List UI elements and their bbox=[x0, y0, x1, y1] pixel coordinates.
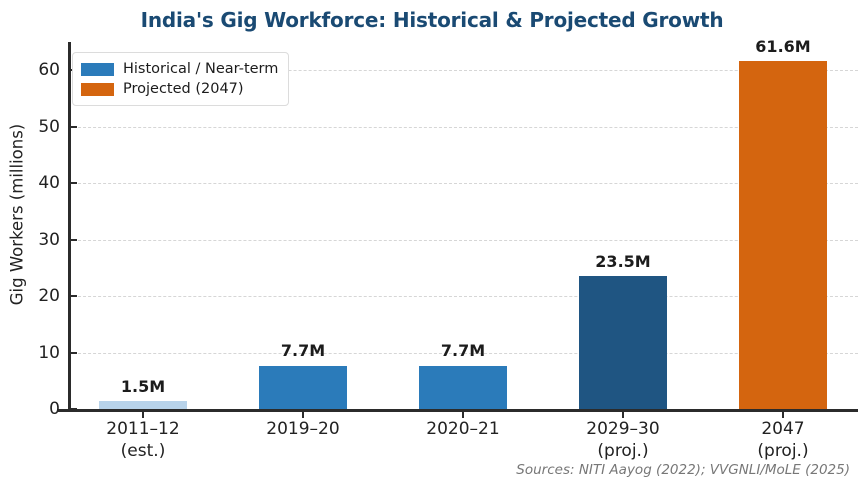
chart-legend[interactable]: Historical / Near-termProjected (2047) bbox=[72, 52, 289, 106]
x-tick-mark bbox=[782, 411, 784, 418]
legend-label: Historical / Near-term bbox=[123, 61, 278, 77]
y-tick-mark bbox=[70, 239, 77, 241]
x-axis-spine bbox=[58, 409, 858, 412]
bar-value-label: 7.7M bbox=[403, 341, 523, 360]
y-tick-mark bbox=[70, 182, 77, 184]
legend-swatch bbox=[81, 83, 114, 96]
x-tick-label: 2020–21 bbox=[383, 419, 543, 441]
y-tick-mark bbox=[70, 295, 77, 297]
bar[interactable] bbox=[99, 401, 187, 409]
source-note: Sources: NITI Aayog (2022); VVGNLI/MoLE … bbox=[516, 462, 850, 478]
y-axis-ticks: 0102030405060 bbox=[8, 0, 60, 490]
bar[interactable] bbox=[419, 366, 507, 410]
y-tick-label: 20 bbox=[20, 286, 60, 306]
y-axis-spine bbox=[68, 42, 71, 411]
legend-swatch bbox=[81, 63, 114, 76]
x-tick-mark bbox=[302, 411, 304, 418]
y-tick-label: 10 bbox=[20, 343, 60, 363]
y-tick-label: 30 bbox=[20, 230, 60, 250]
y-tick-label: 60 bbox=[20, 60, 60, 80]
x-tick-mark bbox=[462, 411, 464, 418]
bar[interactable] bbox=[259, 366, 347, 410]
y-tick-mark bbox=[70, 126, 77, 128]
chart-title: India's Gig Workforce: Historical & Proj… bbox=[0, 8, 864, 32]
bar[interactable] bbox=[579, 276, 667, 409]
legend-item[interactable]: Historical / Near-term bbox=[81, 59, 278, 79]
x-tick-label: 2019–20 bbox=[223, 419, 383, 441]
x-tick-mark bbox=[622, 411, 624, 418]
bar-value-label: 1.5M bbox=[83, 377, 203, 396]
legend-label: Projected (2047) bbox=[123, 81, 244, 97]
x-tick-label: 2011–12 (est.) bbox=[63, 419, 223, 463]
bar[interactable] bbox=[739, 61, 827, 409]
x-tick-label: 2047 (proj.) bbox=[703, 419, 863, 463]
legend-item[interactable]: Projected (2047) bbox=[81, 79, 278, 99]
bar-value-label: 7.7M bbox=[243, 341, 363, 360]
chart-figure: India's Gig Workforce: Historical & Proj… bbox=[0, 0, 864, 490]
x-tick-mark bbox=[142, 411, 144, 418]
y-tick-label: 40 bbox=[20, 173, 60, 193]
bar-value-label: 23.5M bbox=[563, 252, 683, 271]
y-tick-label: 50 bbox=[20, 117, 60, 137]
bar-value-label: 61.6M bbox=[723, 37, 843, 56]
x-tick-label: 2029–30 (proj.) bbox=[543, 419, 703, 463]
y-tick-mark bbox=[70, 352, 77, 354]
y-tick-label: 0 bbox=[20, 399, 60, 419]
y-tick-mark bbox=[70, 408, 77, 410]
